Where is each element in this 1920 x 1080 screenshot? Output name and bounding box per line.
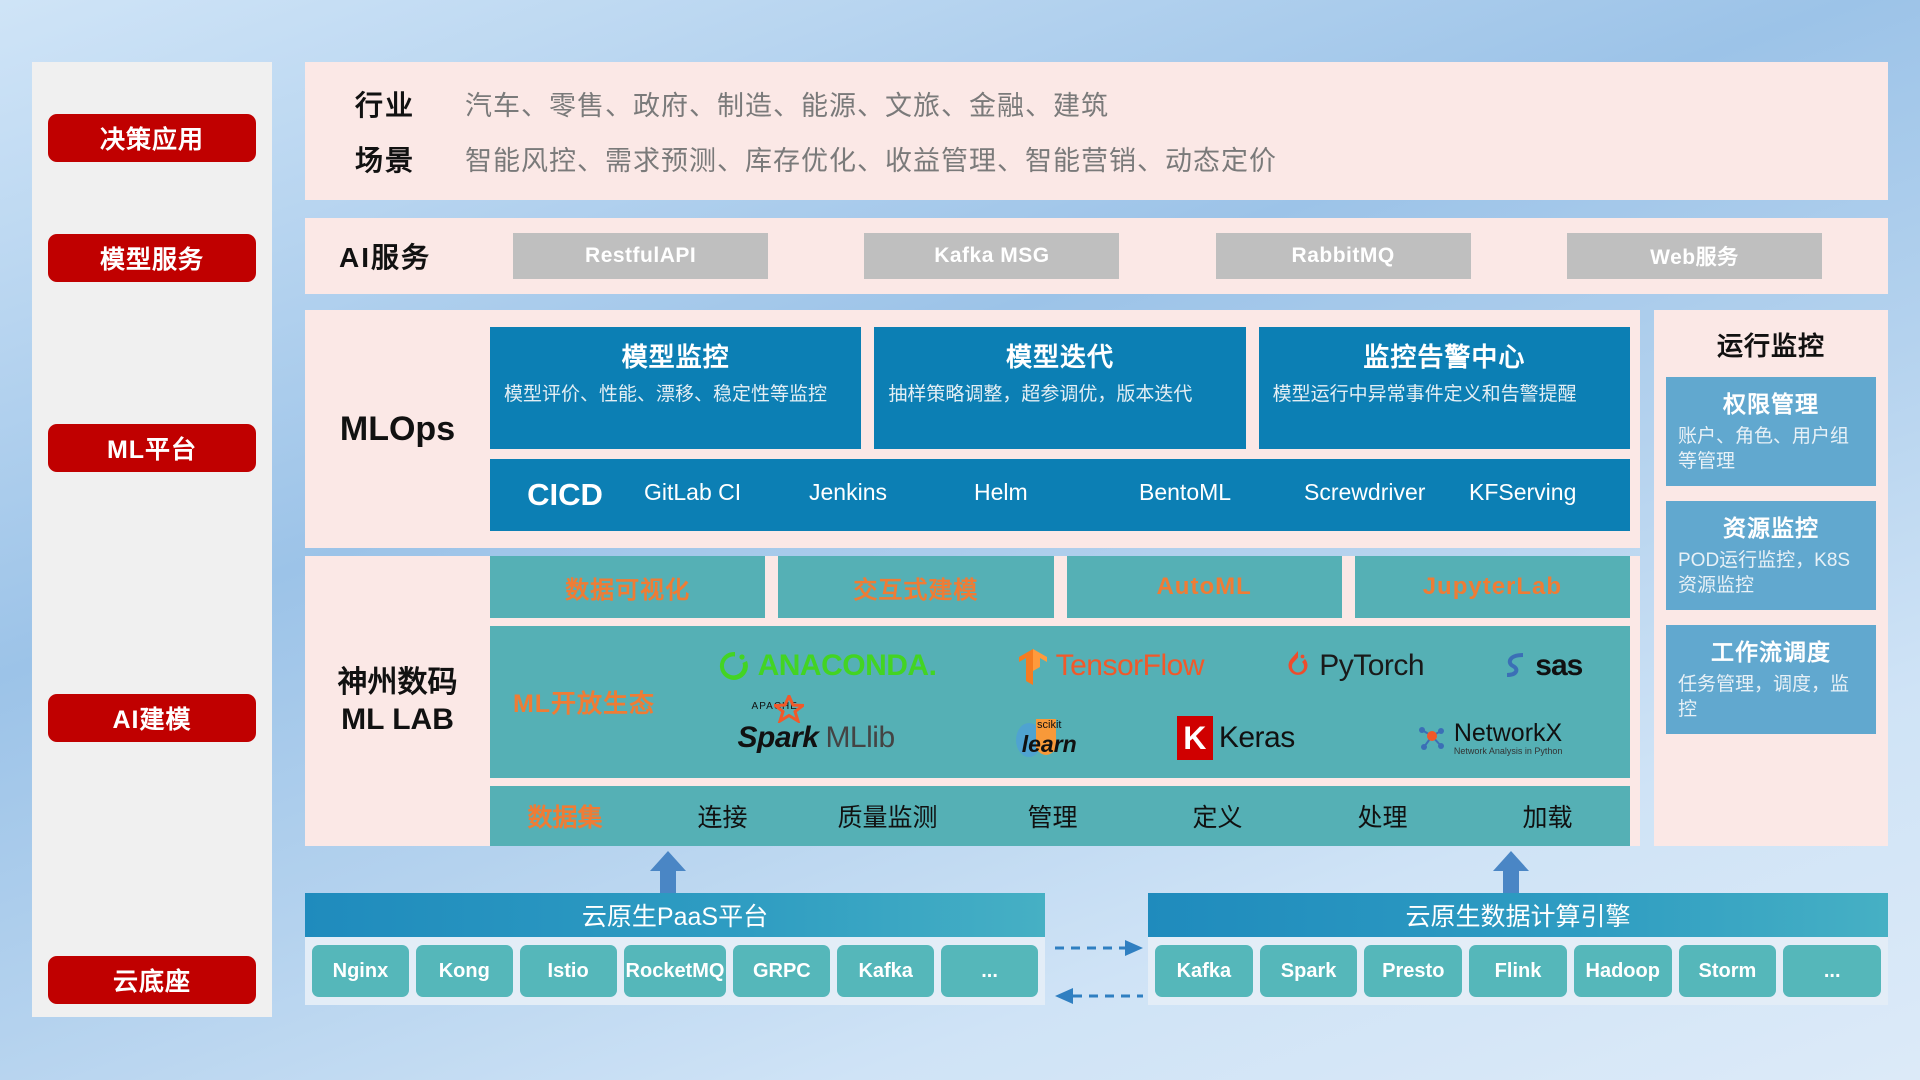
cloud-chip-flink[interactable]: Flink xyxy=(1469,945,1567,997)
tool-jupyterlab[interactable]: JupyterLab xyxy=(1355,556,1630,618)
networkx-logo: NetworkX Network Analysis in Python xyxy=(1414,721,1563,756)
sas-wordmark: sas xyxy=(1535,649,1582,683)
rail-chip-cloud-base[interactable]: 云底座 xyxy=(48,956,256,1004)
cloud-chip-grpc[interactable]: GRPC xyxy=(733,945,830,997)
ops-monitor-panel: 运行监控 权限管理 账户、角色、用户组等管理 资源监控 POD运行监控，K8S资… xyxy=(1654,310,1888,846)
ml-open-ecosystem: ML开放生态 ANACONDA. xyxy=(490,626,1630,778)
ai-services-band: AI服务 RestfulAPI Kafka MSG RabbitMQ Web服务 xyxy=(305,218,1888,294)
cloud-chip-spark[interactable]: Spark xyxy=(1260,945,1358,997)
cloud-chip-kong[interactable]: Kong xyxy=(416,945,513,997)
cloud-chip-kafka[interactable]: Kafka xyxy=(837,945,934,997)
mlops-card-model-iteration[interactable]: 模型迭代 抽样策略调整，超参调优，版本迭代 xyxy=(874,327,1245,449)
cicd-item-helm[interactable]: Helm xyxy=(970,481,1135,509)
keras-logo: K Keras xyxy=(1177,716,1295,760)
up-arrow-paas-icon xyxy=(648,851,688,893)
dataset-item-manage[interactable]: 管理 xyxy=(970,798,1135,834)
rail-chip-label: 决策应用 xyxy=(100,120,204,156)
ops-card-resource-monitoring[interactable]: 资源监控 POD运行监控，K8S资源监控 xyxy=(1666,501,1876,610)
mllib-wordmark: MLlib xyxy=(825,721,894,755)
mlops-cards: 模型监控 模型评价、性能、漂移、稳定性等监控 模型迭代 抽样策略调整，超参调优，… xyxy=(490,327,1630,449)
ops-monitor-title: 运行监控 xyxy=(1666,326,1876,363)
cloud-chip-more[interactable]: ... xyxy=(941,945,1038,997)
cicd-item-kfserving[interactable]: KFServing xyxy=(1465,481,1630,509)
scenario-value: 智能风控、需求预测、库存优化、收益管理、智能营销、动态定价 xyxy=(465,139,1277,178)
mlops-label: MLOps xyxy=(305,410,490,449)
pytorch-icon xyxy=(1283,649,1313,683)
spark-mllib-logo: APACHE Spark MLlib xyxy=(738,721,895,755)
tensorflow-icon xyxy=(1016,647,1050,685)
rail-chip-label: ML平台 xyxy=(107,430,197,466)
keras-mark: K xyxy=(1177,716,1213,760)
dataset-item-process[interactable]: 处理 xyxy=(1300,798,1465,834)
rail-chip-label: 模型服务 xyxy=(100,240,204,276)
cloud-data-engine-group: 云原生数据计算引擎 Kafka Spark Presto Flink Hadoo… xyxy=(1148,893,1888,1005)
tensorflow-logo: TensorFlow xyxy=(1016,647,1204,685)
cloud-chip-more[interactable]: ... xyxy=(1783,945,1881,997)
ai-service-button-web[interactable]: Web服务 xyxy=(1567,233,1822,279)
scikit-learn-logo: scikit learn xyxy=(1014,715,1058,761)
ai-service-button-restfulapi[interactable]: RestfulAPI xyxy=(513,233,768,279)
rail-chip-label: 云底座 xyxy=(113,962,191,998)
ml-open-ecosystem-label: ML开放生态 xyxy=(490,684,678,720)
ml-lab-band: 神州数码 ML LAB 数据可视化 交互式建模 AutoML JupyterLa… xyxy=(305,556,1640,846)
mlops-content: 模型监控 模型评价、性能、漂移、稳定性等监控 模型迭代 抽样策略调整，超参调优，… xyxy=(490,319,1640,539)
anaconda-wordmark: ANACONDA. xyxy=(758,649,937,683)
ai-service-button-rabbitmq[interactable]: RabbitMQ xyxy=(1216,233,1471,279)
tensorflow-wordmark: TensorFlow xyxy=(1056,649,1204,683)
ai-services-items: RestfulAPI Kafka MSG RabbitMQ Web服务 xyxy=(465,233,1888,279)
sas-logo: sas xyxy=(1503,649,1582,683)
ai-service-cell: Kafka MSG xyxy=(816,233,1167,279)
cicd-item-screwdriver[interactable]: Screwdriver xyxy=(1300,481,1465,509)
dataset-bar: 数据集 连接 质量监测 管理 定义 处理 加载 xyxy=(490,786,1630,846)
cicd-title: CICD xyxy=(490,477,640,513)
cloud-chip-presto[interactable]: Presto xyxy=(1364,945,1462,997)
dataset-title: 数据集 xyxy=(490,798,640,834)
rail-chip-decision-apps[interactable]: 决策应用 xyxy=(48,114,256,162)
networkx-wordmark: NetworkX xyxy=(1454,721,1563,746)
cicd-item-gitlab-ci[interactable]: GitLab CI xyxy=(640,481,805,509)
mlops-card-alert-center[interactable]: 监控告警中心 模型运行中异常事件定义和告警提醒 xyxy=(1259,327,1630,449)
card-title: 资源监控 xyxy=(1678,509,1864,543)
ecosystem-logos: ANACONDA. TensorFlow xyxy=(678,630,1630,774)
card-title: 监控告警中心 xyxy=(1273,337,1616,374)
cloud-paas-title: 云原生PaaS平台 xyxy=(305,893,1045,937)
spark-star-icon xyxy=(774,695,804,723)
cloud-chip-kafka[interactable]: Kafka xyxy=(1155,945,1253,997)
scenario-row: 场景 智能风控、需求预测、库存优化、收益管理、智能营销、动态定价 xyxy=(305,131,1888,186)
ai-service-cell: Web服务 xyxy=(1519,233,1870,279)
card-title: 工作流调度 xyxy=(1678,633,1864,667)
dataset-item-load[interactable]: 加载 xyxy=(1465,798,1630,834)
anaconda-icon xyxy=(718,649,752,683)
dataset-item-quality-monitoring[interactable]: 质量监测 xyxy=(805,798,970,834)
dataset-item-connect[interactable]: 连接 xyxy=(640,798,805,834)
card-desc: 任务管理，调度，监控 xyxy=(1678,672,1864,722)
cloud-chip-storm[interactable]: Storm xyxy=(1679,945,1777,997)
pytorch-wordmark: PyTorch xyxy=(1319,649,1424,683)
cicd-bar: CICD GitLab CI Jenkins Helm BentoML Scre… xyxy=(490,459,1630,531)
mlops-card-model-monitoring[interactable]: 模型监控 模型评价、性能、漂移、稳定性等监控 xyxy=(490,327,861,449)
ai-service-button-kafka-msg[interactable]: Kafka MSG xyxy=(864,233,1119,279)
logo-row-2: APACHE Spark MLlib xyxy=(678,702,1622,774)
sas-icon xyxy=(1503,651,1529,681)
ai-service-cell: RestfulAPI xyxy=(465,233,816,279)
industry-label: 行业 xyxy=(305,84,465,124)
scikit-small-text: scikit xyxy=(1022,719,1077,731)
spark-wordmark: Spark xyxy=(738,721,819,755)
rail-chip-label: AI建模 xyxy=(112,700,191,736)
ai-service-cell: RabbitMQ xyxy=(1168,233,1519,279)
card-desc: 模型运行中异常事件定义和告警提醒 xyxy=(1273,382,1616,408)
cloud-paas-chips: Nginx Kong Istio RocketMQ GRPC Kafka ... xyxy=(305,937,1045,1005)
card-title: 权限管理 xyxy=(1678,385,1864,419)
bidirectional-dashed-arrows-icon xyxy=(1053,936,1145,1008)
card-desc: 账户、角色、用户组等管理 xyxy=(1678,424,1864,474)
rail-chip-ai-modeling[interactable]: AI建模 xyxy=(48,694,256,742)
cicd-item-bentoml[interactable]: BentoML xyxy=(1135,481,1300,509)
cicd-item-jenkins[interactable]: Jenkins xyxy=(805,481,970,509)
dataset-item-define[interactable]: 定义 xyxy=(1135,798,1300,834)
card-desc: 抽样策略调整，超参调优，版本迭代 xyxy=(888,382,1231,408)
cloud-chip-istio[interactable]: Istio xyxy=(520,945,617,997)
cloud-chip-hadoop[interactable]: Hadoop xyxy=(1574,945,1672,997)
pytorch-logo: PyTorch xyxy=(1283,649,1424,683)
cloud-paas-group: 云原生PaaS平台 Nginx Kong Istio RocketMQ GRPC… xyxy=(305,893,1045,1005)
applications-band: 行业 汽车、零售、政府、制造、能源、文旅、金融、建筑 场景 智能风控、需求预测、… xyxy=(305,62,1888,200)
tool-automl[interactable]: AutoML xyxy=(1067,556,1342,618)
card-title: 模型监控 xyxy=(504,337,847,374)
networkx-tagline: Network Analysis in Python xyxy=(1454,746,1563,756)
rail-chip-model-service[interactable]: 模型服务 xyxy=(48,234,256,282)
mlops-band: MLOps 模型监控 模型评价、性能、漂移、稳定性等监控 模型迭代 抽样策略调整… xyxy=(305,310,1640,548)
networkx-icon xyxy=(1414,721,1448,755)
cloud-data-engine-chips: Kafka Spark Presto Flink Hadoop Storm ..… xyxy=(1148,937,1888,1005)
ml-lab-content: 数据可视化 交互式建模 AutoML JupyterLab ML开放生态 ANA… xyxy=(490,548,1640,854)
rail-chip-ml-platform[interactable]: ML平台 xyxy=(48,424,256,472)
anaconda-logo: ANACONDA. xyxy=(718,649,937,683)
ml-lab-tools: 数据可视化 交互式建模 AutoML JupyterLab xyxy=(490,556,1630,618)
cloud-chip-rocketmq[interactable]: RocketMQ xyxy=(624,945,727,997)
ml-lab-label-line1: 神州数码 xyxy=(305,664,490,702)
learn-wordmark: learn xyxy=(1022,731,1077,758)
tool-interactive-modeling[interactable]: 交互式建模 xyxy=(778,556,1053,618)
ai-services-label: AI服务 xyxy=(305,236,465,276)
ops-card-permission-management[interactable]: 权限管理 账户、角色、用户组等管理 xyxy=(1666,377,1876,486)
ml-lab-label: 神州数码 ML LAB xyxy=(305,664,490,739)
cloud-data-engine-title: 云原生数据计算引擎 xyxy=(1148,893,1888,937)
industry-row: 行业 汽车、零售、政府、制造、能源、文旅、金融、建筑 xyxy=(305,76,1888,131)
cloud-chip-nginx[interactable]: Nginx xyxy=(312,945,409,997)
logo-row-1: ANACONDA. TensorFlow xyxy=(678,630,1622,702)
up-arrow-data-engine-icon xyxy=(1491,851,1531,893)
left-rail: 决策应用 模型服务 ML平台 AI建模 云底座 xyxy=(32,62,272,1017)
keras-wordmark: Keras xyxy=(1219,721,1295,755)
ml-lab-label-line2: ML LAB xyxy=(305,701,490,739)
industry-value: 汽车、零售、政府、制造、能源、文旅、金融、建筑 xyxy=(465,84,1109,123)
tool-data-visualization[interactable]: 数据可视化 xyxy=(490,556,765,618)
card-desc: POD运行监控，K8S资源监控 xyxy=(1678,548,1864,598)
card-title: 模型迭代 xyxy=(888,337,1231,374)
ops-card-workflow-scheduling[interactable]: 工作流调度 任务管理，调度，监控 xyxy=(1666,625,1876,734)
scenario-label: 场景 xyxy=(305,139,465,179)
card-desc: 模型评价、性能、漂移、稳定性等监控 xyxy=(504,382,847,408)
